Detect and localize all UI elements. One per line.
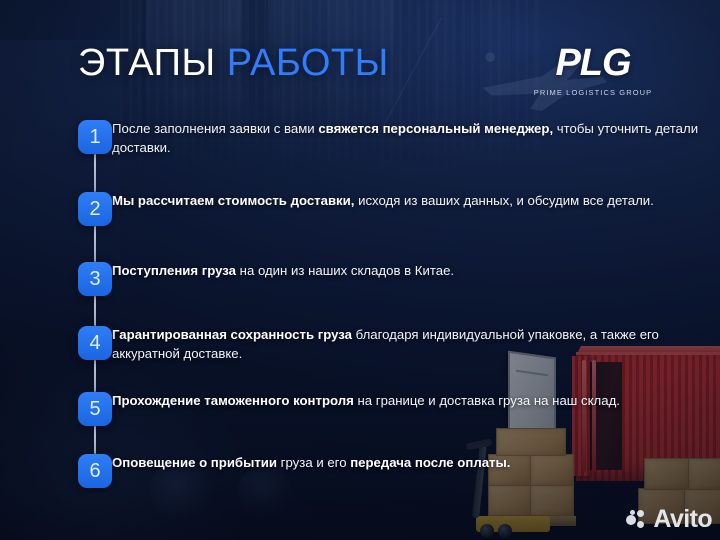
- step-text-plain: на один из наших складов в Китае.: [236, 263, 454, 278]
- avito-dot-large: [626, 515, 636, 525]
- step-text-emphasis: Оповещение о прибытии: [112, 455, 277, 470]
- step-text-plain: на границе и доставка груза на наш склад…: [354, 393, 620, 408]
- step-badge-column: 5: [0, 392, 112, 426]
- step-item-6: 6 Оповещение о прибытии груза и его пере…: [0, 454, 720, 488]
- avito-dots-icon: [626, 510, 648, 530]
- logo-wordmark: PLG: [528, 44, 658, 82]
- avito-dot-small: [637, 521, 644, 528]
- avito-dot-tiny: [630, 510, 635, 515]
- step-number-badge-3: 3: [78, 262, 112, 296]
- step-text-emphasis: Мы рассчитаем стоимость доставки,: [112, 193, 354, 208]
- step-connector-line: [94, 154, 96, 192]
- step-text-plain: исходя из ваших данных, и обсудим все де…: [354, 193, 653, 208]
- title-word-stages: ЭТАПЫ: [78, 42, 216, 84]
- step-number-badge-2: 2: [78, 192, 112, 226]
- logo-tagline: PRIME LOGISTICS GROUP: [528, 88, 658, 97]
- step-text-3: Поступления груза на один из наших склад…: [112, 262, 720, 281]
- step-text-emphasis: Гарантированная сохранность груза: [112, 327, 352, 342]
- step-connector-line: [94, 426, 96, 454]
- step-item-3: 3 Поступления груза на один из наших скл…: [0, 262, 720, 326]
- step-item-1: 1 После заполнения заявки с вами свяжетс…: [0, 120, 720, 192]
- avito-wordmark: Avito: [653, 507, 712, 532]
- title-word-work: РАБОТЫ: [227, 42, 389, 84]
- step-text-1: После заполнения заявки с вами свяжется …: [112, 120, 720, 157]
- step-connector-line: [94, 296, 96, 326]
- step-number-badge-5: 5: [78, 392, 112, 426]
- brand-logo: PLG PRIME LOGISTICS GROUP: [528, 44, 658, 97]
- steps-list: 1 После заполнения заявки с вами свяжетс…: [0, 120, 720, 488]
- step-text-emphasis: Поступления груза: [112, 263, 236, 278]
- step-text-6: Оповещение о прибытии груза и его переда…: [112, 454, 720, 473]
- step-text-plain: После заполнения заявки с вами: [112, 121, 318, 136]
- step-badge-column: 4: [0, 326, 112, 360]
- step-badge-column: 6: [0, 454, 112, 488]
- step-text-emphasis-2: передача после оплаты.: [350, 455, 510, 470]
- step-text-emphasis: Прохождение таможенного контроля: [112, 393, 354, 408]
- step-item-4: 4 Гарантированная сохранность груза благ…: [0, 326, 720, 392]
- avito-watermark: Avito: [626, 507, 712, 532]
- step-item-5: 5 Прохождение таможенного контроля на гр…: [0, 392, 720, 454]
- step-number-badge-1: 1: [78, 120, 112, 154]
- page-title: ЭТАПЫ РАБОТЫ: [78, 44, 389, 82]
- step-badge-column: 3: [0, 262, 112, 296]
- step-connector-line: [94, 360, 96, 392]
- step-item-2: 2 Мы рассчитаем стоимость доставки, исхо…: [0, 192, 720, 262]
- avito-dot-small: [637, 510, 644, 517]
- step-text-4: Гарантированная сохранность груза благод…: [112, 326, 720, 363]
- step-text-emphasis: свяжется персональный менеджер,: [318, 121, 553, 136]
- step-text-2: Мы рассчитаем стоимость доставки, исходя…: [112, 192, 720, 211]
- step-text-plain: груза и его: [277, 455, 350, 470]
- step-text-5: Прохождение таможенного контроля на гран…: [112, 392, 720, 411]
- step-number-badge-4: 4: [78, 326, 112, 360]
- poster-canvas: ЭТАПЫ РАБОТЫ PLG PRIME LOGISTICS GROUP 1…: [0, 0, 720, 540]
- step-badge-column: 1: [0, 120, 112, 154]
- step-number-badge-6: 6: [78, 454, 112, 488]
- step-connector-line: [94, 226, 96, 262]
- step-badge-column: 2: [0, 192, 112, 226]
